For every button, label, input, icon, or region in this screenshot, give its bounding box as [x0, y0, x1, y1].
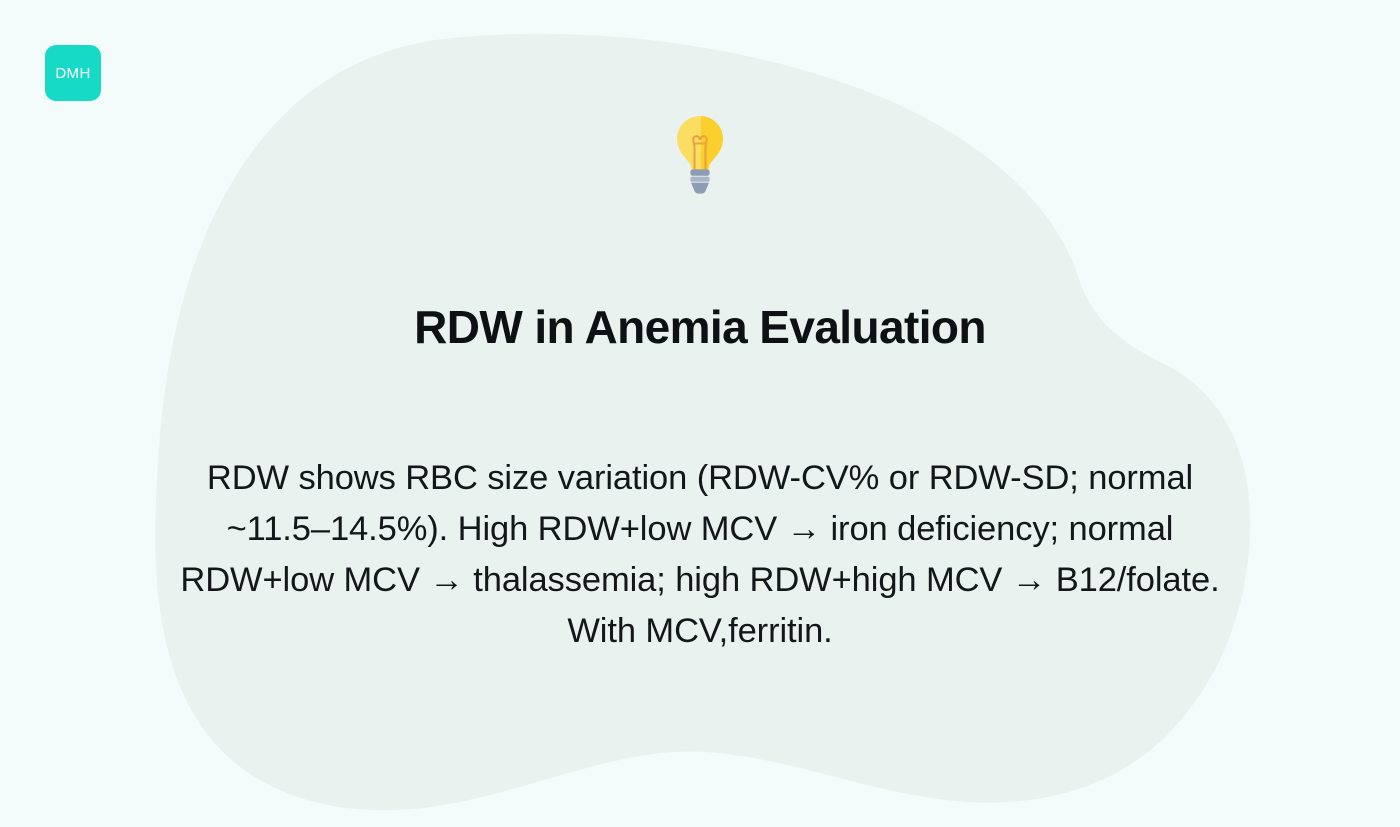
lightbulb-base-tip [691, 183, 709, 194]
brand-logo-label: DMH [55, 66, 90, 81]
slide-canvas: DMH RDW in Anemia Evaluation RDW shows R… [0, 0, 1400, 827]
page-title: RDW in Anemia Evaluation [120, 301, 1280, 354]
lightbulb-base-mid [690, 177, 709, 182]
lightbulb-icon [674, 112, 726, 196]
brand-logo-badge[interactable]: DMH [45, 45, 101, 101]
slide-body-text: RDW shows RBC size variation (RDW-CV% or… [165, 453, 1235, 657]
lightbulb-base-top [690, 169, 709, 175]
slide-content: RDW in Anemia Evaluation RDW shows RBC s… [0, 0, 1400, 827]
